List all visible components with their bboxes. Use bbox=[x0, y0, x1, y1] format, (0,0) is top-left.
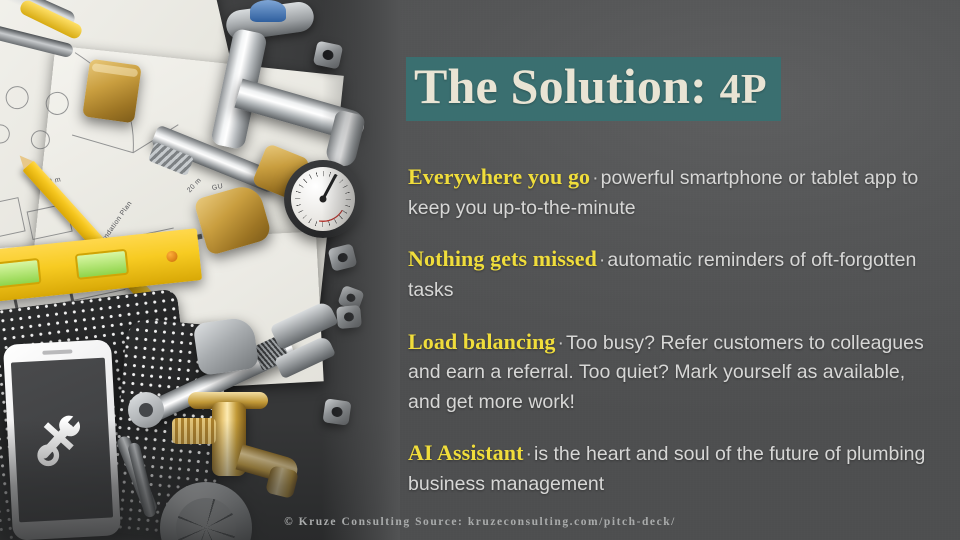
bullet-separator: · bbox=[524, 443, 535, 465]
gauge-face bbox=[291, 167, 355, 231]
bullet-lead: Everywhere you go bbox=[408, 164, 590, 189]
bullet-lead: Load balancing bbox=[408, 329, 556, 354]
page-title: The Solution: 4P bbox=[414, 59, 767, 113]
bullet-lead: Nothing gets missed bbox=[408, 246, 597, 271]
page-title-suffix: 4P bbox=[720, 67, 767, 113]
faucet-cap bbox=[250, 0, 286, 22]
bullet-separator: · bbox=[556, 332, 567, 354]
spirit-level-vial bbox=[0, 258, 42, 289]
bullet-lead: AI Assistant bbox=[408, 440, 524, 465]
phone-speaker bbox=[42, 349, 72, 355]
gauge-pivot bbox=[320, 196, 327, 203]
spirit-level-vial bbox=[75, 249, 129, 280]
chrome-elbow-fitting bbox=[193, 316, 260, 376]
footer-credit: © Kruze Consulting Source: kruzeconsulti… bbox=[0, 516, 960, 528]
spirit-level-knob bbox=[166, 250, 178, 262]
bullet-item-ai-assistant: AI Assistant·is the heart and soul of th… bbox=[408, 436, 928, 499]
bullet-separator: · bbox=[597, 249, 608, 271]
bullet-list: Everywhere you go·powerful smartphone or… bbox=[408, 160, 928, 519]
bullet-separator: · bbox=[590, 167, 601, 189]
brass-coupler bbox=[82, 59, 142, 124]
bullet-item-everywhere-you-go: Everywhere you go·powerful smartphone or… bbox=[408, 160, 928, 223]
hex-nut bbox=[336, 305, 362, 329]
pressure-gauge bbox=[284, 160, 362, 238]
bullet-item-nothing-gets-missed: Nothing gets missed·automatic reminders … bbox=[408, 242, 928, 305]
plumbing-tools-photo: 40 m 20 m Foundation Plan GU bbox=[0, 0, 400, 540]
slide-root: 40 m 20 m Foundation Plan GU bbox=[0, 0, 960, 540]
title-band: The Solution: 4P bbox=[406, 57, 781, 121]
hex-nut bbox=[313, 41, 343, 70]
slide-content: The Solution: 4P Everywhere you go·power… bbox=[406, 0, 936, 540]
page-title-main: The Solution: bbox=[414, 58, 720, 114]
bullet-item-load-balancing: Load balancing·Too busy? Refer customers… bbox=[408, 325, 928, 418]
hex-nut bbox=[328, 243, 358, 271]
